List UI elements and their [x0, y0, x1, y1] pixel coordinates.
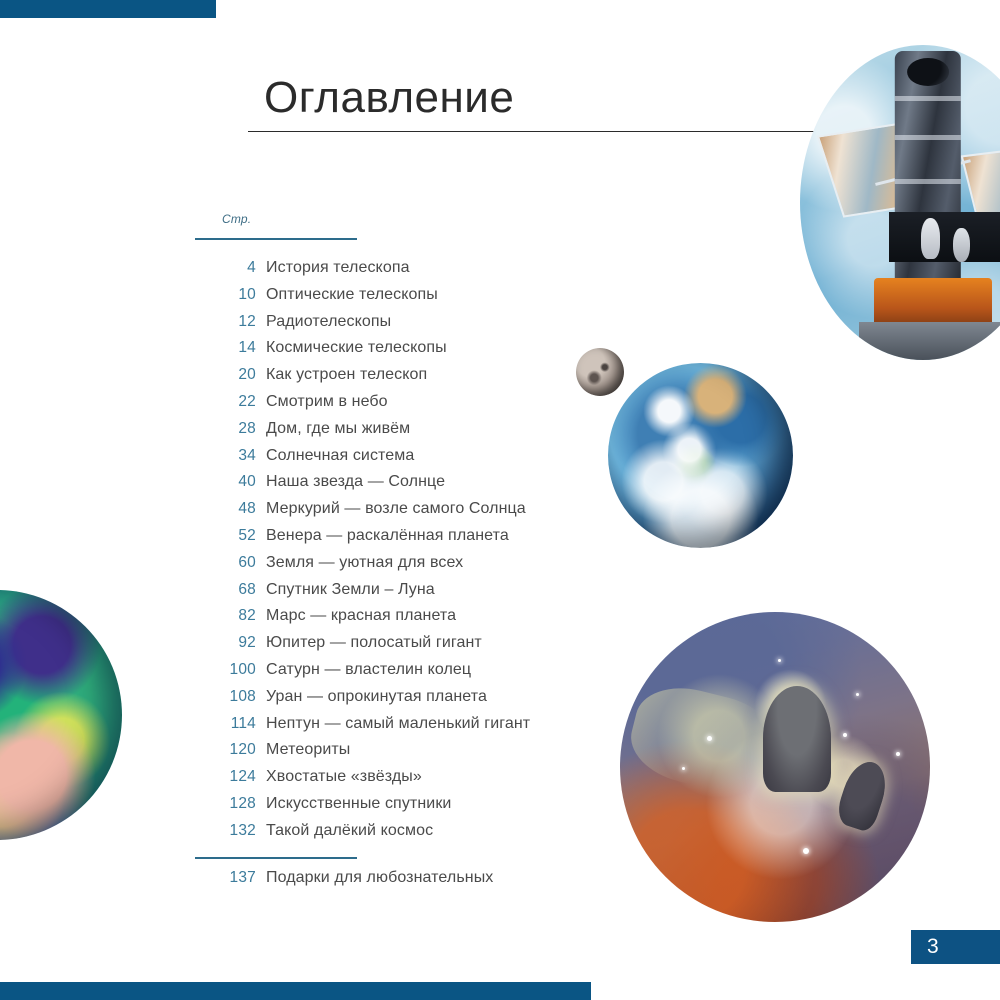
- astronaut-figure: [953, 228, 970, 263]
- toc-entry-label: Дом, где мы живём: [256, 420, 410, 438]
- toc-entry[interactable]: 40Наша звезда — Солнце: [160, 473, 600, 500]
- nebula-globule: [834, 756, 893, 833]
- toc-entry-label: Марс — красная планета: [256, 607, 456, 625]
- toc-entry-label: Солнечная система: [256, 447, 414, 465]
- toc-entry[interactable]: 137Подарки для любознательных: [160, 869, 600, 896]
- toc-entry-page: 108: [160, 688, 256, 706]
- page-column-header: Стр.: [222, 212, 251, 226]
- toc-entry-page: 137: [160, 869, 256, 887]
- toc-entry-label: Искусственные спутники: [256, 795, 451, 813]
- toc-entry-label: Меркурий — возле самого Солнца: [256, 500, 526, 518]
- venus-planet-photo: [0, 590, 122, 840]
- toc-entry-page: 48: [160, 500, 256, 518]
- toc-entry-page: 20: [160, 366, 256, 384]
- telescope-bay: [889, 212, 1000, 262]
- bottom-accent-bar: [0, 982, 591, 1000]
- toc-entry[interactable]: 92Юпитер — полосатый гигант: [160, 634, 600, 661]
- nebula-ridge: [623, 677, 784, 802]
- toc-entry-label: Смотрим в небо: [256, 393, 388, 411]
- toc-entry-page: 92: [160, 634, 256, 652]
- toc-entry-page: 100: [160, 661, 256, 679]
- toc-entry[interactable]: 4История телескопа: [160, 259, 600, 286]
- toc-entry-page: 52: [160, 527, 256, 545]
- toc-entry-page: 82: [160, 607, 256, 625]
- toc-entry[interactable]: 48Меркурий — возле самого Солнца: [160, 500, 600, 527]
- star: [843, 733, 847, 737]
- toc-page: Оглавление Стр. 4История телескопа10Опти…: [0, 0, 1000, 1000]
- toc-entry-page: 40: [160, 473, 256, 491]
- toc-entry-label: Хвостатые «звёзды»: [256, 768, 422, 786]
- toc-entry-label: Земля — уютная для всех: [256, 554, 463, 572]
- hubble-space-telescope-photo: [800, 45, 1000, 360]
- telescope-segment: [895, 179, 961, 184]
- toc-entry-page: 4: [160, 259, 256, 277]
- toc-entry-page: 120: [160, 741, 256, 759]
- toc-entry-label: Венера — раскалённая планета: [256, 527, 509, 545]
- star: [778, 659, 781, 662]
- toc-entry-label: Такой далёкий космос: [256, 822, 433, 840]
- toc-entry-page: 14: [160, 339, 256, 357]
- toc-entry[interactable]: 14Космические телескопы: [160, 339, 600, 366]
- telescope-base: [859, 322, 1000, 360]
- toc-entry-page: 60: [160, 554, 256, 572]
- toc-entry[interactable]: 34Солнечная система: [160, 447, 600, 474]
- toc-entry-label: Уран — опрокинутая планета: [256, 688, 487, 706]
- star: [707, 736, 712, 741]
- toc-entry-page: 34: [160, 447, 256, 465]
- toc-entry[interactable]: 60Земля — уютная для всех: [160, 554, 600, 581]
- top-accent-bar: [0, 0, 216, 18]
- toc-entry[interactable]: 128Искусственные спутники: [160, 795, 600, 822]
- toc-entry[interactable]: 20Как устроен телескоп: [160, 366, 600, 393]
- toc-bottom-divider: [195, 857, 357, 859]
- star: [856, 693, 859, 696]
- toc-entry[interactable]: 12Радиотелескопы: [160, 313, 600, 340]
- toc-entry-page: 28: [160, 420, 256, 438]
- toc-entry[interactable]: 10Оптические телескопы: [160, 286, 600, 313]
- toc-entry-page: 12: [160, 313, 256, 331]
- toc-entry-label: История телескопа: [256, 259, 410, 277]
- toc-appendix-list: 137Подарки для любознательных: [160, 869, 600, 896]
- toc-entry-page: 10: [160, 286, 256, 304]
- earth-planet-photo: [608, 363, 793, 548]
- toc-entry-label: Космические телескопы: [256, 339, 447, 357]
- toc-entry-label: Сатурн — властелин колец: [256, 661, 471, 679]
- toc-entry-page: 114: [160, 715, 256, 733]
- nebula-photo: [620, 612, 930, 922]
- toc-entry[interactable]: 114Нептун — самый маленький гигант: [160, 715, 600, 742]
- toc-entry[interactable]: 120Метеориты: [160, 741, 600, 768]
- toc-top-divider: [195, 238, 357, 240]
- toc-entry-label: Нептун — самый маленький гигант: [256, 715, 530, 733]
- telescope-aperture: [907, 58, 949, 86]
- toc-entry-page: 68: [160, 581, 256, 599]
- moon-photo: [576, 348, 624, 396]
- toc-entry-label: Подарки для любознательных: [256, 869, 493, 887]
- toc-entry[interactable]: 52Венера — раскалённая планета: [160, 527, 600, 554]
- title-divider: [248, 131, 822, 132]
- toc-entry-label: Радиотелескопы: [256, 313, 391, 331]
- telescope-segment: [895, 96, 961, 101]
- toc-entry[interactable]: 132Такой далёкий космос: [160, 822, 600, 849]
- toc-list: 4История телескопа10Оптические телескопы…: [160, 259, 600, 849]
- star: [896, 752, 900, 756]
- nebula-pillar: [763, 686, 831, 791]
- toc-entry[interactable]: 124Хвостатые «звёзды»: [160, 768, 600, 795]
- toc-entry-label: Наша звезда — Солнце: [256, 473, 445, 491]
- toc-entry-label: Спутник Земли – Луна: [256, 581, 435, 599]
- telescope-segment: [895, 135, 961, 140]
- toc-entry[interactable]: 28Дом, где мы живём: [160, 420, 600, 447]
- toc-entry-page: 132: [160, 822, 256, 840]
- toc-entry[interactable]: 68Спутник Земли – Луна: [160, 581, 600, 608]
- toc-entry[interactable]: 100Сатурн — властелин колец: [160, 661, 600, 688]
- toc-entry[interactable]: 82Марс — красная планета: [160, 607, 600, 634]
- orange-module: [874, 278, 992, 328]
- astronaut-figure: [921, 218, 941, 259]
- toc-entry-page: 128: [160, 795, 256, 813]
- toc-entry-label: Метеориты: [256, 741, 350, 759]
- page-title: Оглавление: [264, 72, 514, 124]
- star: [682, 767, 685, 770]
- toc-entry[interactable]: 22Смотрим в небо: [160, 393, 600, 420]
- toc-entry-page: 22: [160, 393, 256, 411]
- toc-entry-page: 124: [160, 768, 256, 786]
- toc-entry-label: Юпитер — полосатый гигант: [256, 634, 482, 652]
- page-number-badge: 3: [911, 930, 1000, 964]
- toc-entry-label: Как устроен телескоп: [256, 366, 427, 384]
- star: [803, 848, 809, 854]
- toc-entry-label: Оптические телескопы: [256, 286, 438, 304]
- toc-entry[interactable]: 108Уран — опрокинутая планета: [160, 688, 600, 715]
